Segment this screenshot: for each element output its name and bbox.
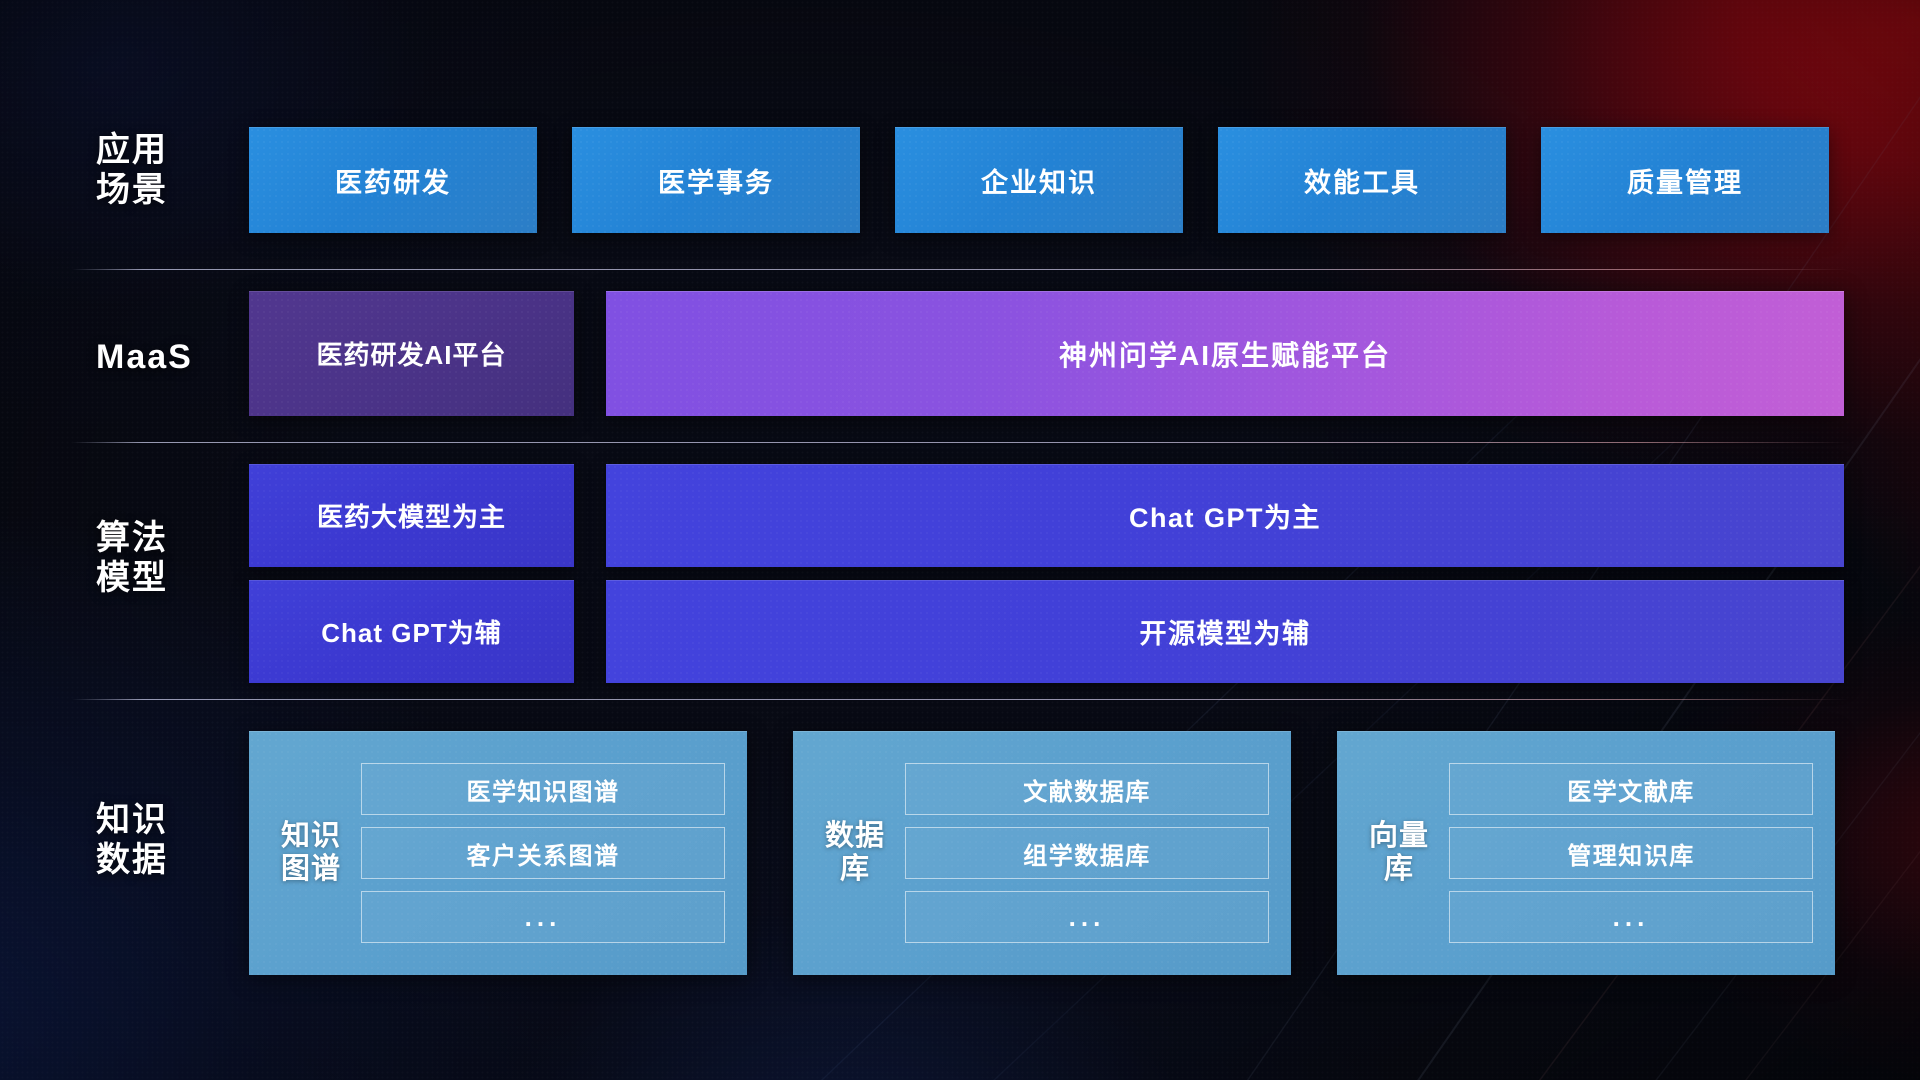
app-box-label: 医药研发 [335,161,451,200]
app-box-quality-management[interactable]: 质量管理 [1541,127,1829,233]
knowledge-panel-vector-store[interactable]: 向量库 医学文献库 管理知识库 ... [1337,731,1835,975]
knowledge-item-more[interactable]: ... [905,891,1269,943]
tier-label-application-line1: 应用 [96,131,168,169]
knowledge-panel-items: 文献数据库 组学数据库 ... [905,763,1269,943]
algo-box-chatgpt-primary[interactable]: Chat GPT为主 [606,464,1844,567]
app-box-medical-affairs[interactable]: 医学事务 [572,127,860,233]
knowledge-panel-items: 医学文献库 管理知识库 ... [1449,763,1813,943]
architecture-diagram: 应用 场景 医药研发 医学事务 企业知识 效能工具 质量管理 MaaS 医药研发… [0,0,1920,1080]
maas-row: 医药研发AI平台 神州问学AI原生赋能平台 [249,291,1844,416]
maas-box-label: 神州问学AI原生赋能平台 [1059,334,1391,374]
algorithm-line-secondary: Chat GPT为辅 开源模型为辅 [249,580,1844,683]
knowledge-item[interactable]: 医学文献库 [1449,763,1813,815]
tier-label-maas: MaaS [96,337,246,377]
divider-maas-algorithm [72,442,1848,443]
app-box-label: 企业知识 [981,161,1097,200]
tier-label-algorithm-line1: 算法 [96,519,168,557]
tier-label-knowledge: 知识 数据 [96,800,246,880]
knowledge-item[interactable]: 医学知识图谱 [361,763,725,815]
knowledge-row: 知识图谱 医学知识图谱 客户关系图谱 ... 数据库 文献数据库 组学数据库 .… [249,731,1835,975]
tier-label-application-line2: 场景 [96,170,246,210]
knowledge-item-more[interactable]: ... [1449,891,1813,943]
algorithm-row: 医药大模型为主 Chat GPT为主 Chat GPT为辅 开源模型为辅 [249,464,1844,683]
app-box-label: 质量管理 [1627,161,1743,200]
algo-box-label: Chat GPT为主 [1129,496,1321,535]
application-row: 医药研发 医学事务 企业知识 效能工具 质量管理 [249,127,1829,233]
knowledge-panel-title: 数据库 [823,820,887,886]
algo-box-chatgpt-secondary[interactable]: Chat GPT为辅 [249,580,574,683]
algo-box-label: 开源模型为辅 [1140,612,1311,651]
knowledge-item[interactable]: 客户关系图谱 [361,827,725,879]
knowledge-item-more[interactable]: ... [361,891,725,943]
divider-algorithm-knowledge [72,699,1848,700]
app-box-efficiency-tools[interactable]: 效能工具 [1218,127,1506,233]
tier-label-knowledge-line2: 数据 [96,840,246,880]
maas-box-label: 医药研发AI平台 [316,335,506,372]
algo-box-label: 医药大模型为主 [317,497,506,534]
app-box-label: 效能工具 [1304,161,1420,200]
maas-box-drug-rd-platform[interactable]: 医药研发AI平台 [249,291,574,416]
app-box-label: 医学事务 [658,161,774,200]
algo-box-pharma-llm-primary[interactable]: 医药大模型为主 [249,464,574,567]
algorithm-line-primary: 医药大模型为主 Chat GPT为主 [249,464,1844,567]
knowledge-panel-title: 知识图谱 [279,820,343,886]
knowledge-item[interactable]: 文献数据库 [905,763,1269,815]
knowledge-panel-items: 医学知识图谱 客户关系图谱 ... [361,763,725,943]
tier-label-maas-line1: MaaS [96,338,193,376]
knowledge-item[interactable]: 管理知识库 [1449,827,1813,879]
knowledge-panel-title: 向量库 [1367,820,1431,886]
maas-box-shenzhou-platform[interactable]: 神州问学AI原生赋能平台 [606,291,1844,416]
app-box-drug-rd[interactable]: 医药研发 [249,127,537,233]
algo-box-opensource-secondary[interactable]: 开源模型为辅 [606,580,1844,683]
knowledge-panel-database[interactable]: 数据库 文献数据库 组学数据库 ... [793,731,1291,975]
divider-application-maas [72,269,1848,270]
algo-box-label: Chat GPT为辅 [321,613,501,650]
knowledge-panel-knowledge-graph[interactable]: 知识图谱 医学知识图谱 客户关系图谱 ... [249,731,747,975]
tier-label-knowledge-line1: 知识 [96,801,168,839]
app-box-enterprise-knowledge[interactable]: 企业知识 [895,127,1183,233]
tier-label-application: 应用 场景 [96,130,246,210]
tier-label-algorithm: 算法 模型 [96,518,246,598]
tier-label-algorithm-line2: 模型 [96,558,246,598]
knowledge-item[interactable]: 组学数据库 [905,827,1269,879]
